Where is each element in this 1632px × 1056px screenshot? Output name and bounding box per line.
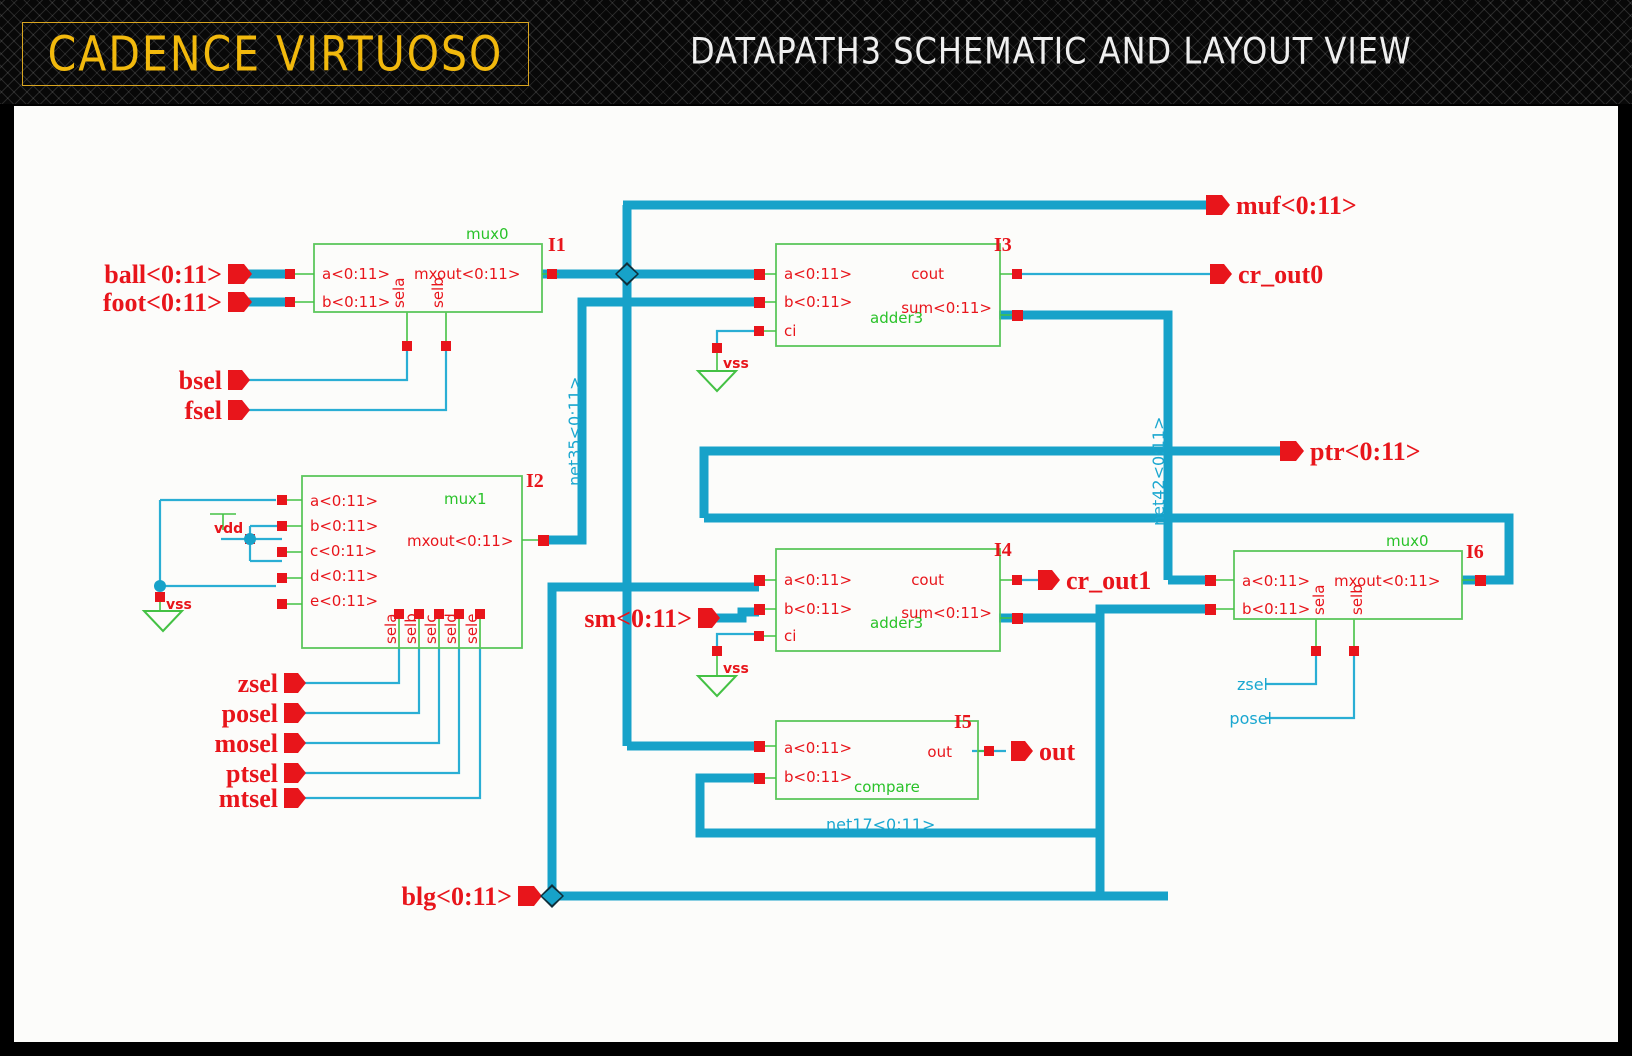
- pin-muf[interactable]: muf<0:11>: [1206, 191, 1357, 220]
- pin-foot[interactable]: foot<0:11>: [103, 288, 252, 317]
- vss-label: vss: [723, 661, 749, 677]
- pin-square: [414, 609, 424, 619]
- instance-I3-id: I3: [994, 234, 1012, 256]
- pin-square: [1349, 646, 1359, 656]
- vss-label: vss: [166, 597, 192, 613]
- pin-arrow-icon: [228, 292, 252, 312]
- instance-I1-port-a: a<0:11>: [322, 265, 390, 283]
- instance-I1-port-selb: selb: [429, 277, 447, 308]
- instance-I2-id: I2: [526, 470, 544, 492]
- supply-vss-i4: vss: [698, 661, 749, 696]
- instance-I1[interactable]: mux0 I1 a<0:11> b<0:11> mxout<0:11> sela…: [285, 225, 566, 351]
- pin-square: [277, 599, 287, 609]
- pin-fsel[interactable]: fsel: [184, 396, 250, 425]
- pin-square: [754, 297, 765, 308]
- pin-square: [475, 609, 485, 619]
- pin-square: [441, 341, 451, 351]
- pin-arrow-icon: [228, 264, 252, 284]
- pin-square: [754, 326, 764, 336]
- instance-I6[interactable]: mux0 I6 a<0:11> b<0:11> mxout<0:11> sela…: [1205, 532, 1486, 656]
- net-label-zsel-i6: zsel: [1237, 675, 1268, 694]
- pin-square: [1012, 310, 1023, 321]
- instance-I2-port-mxout: mxout<0:11>: [407, 532, 513, 550]
- net-label-posel-i6: posel: [1229, 709, 1272, 728]
- instance-I2-cellname: mux1: [444, 490, 487, 508]
- instance-I1-port-sela: sela: [390, 278, 408, 308]
- instance-I4-port-sum: sum<0:11>: [901, 604, 992, 622]
- pin-square: [454, 609, 464, 619]
- pin-out-label: out: [1039, 737, 1075, 766]
- instance-I2-port-e: e<0:11>: [310, 592, 378, 610]
- instance-I6-port-selb: selb: [1348, 584, 1366, 615]
- pin-square: [1311, 646, 1321, 656]
- instance-I3-port-sum: sum<0:11>: [901, 299, 992, 317]
- instance-I3[interactable]: adder3 I3 a<0:11> b<0:11> ci cout sum<0:…: [712, 234, 1023, 353]
- junction-dot: [154, 580, 166, 592]
- pin-ball-label: ball<0:11>: [104, 260, 222, 289]
- pin-mosel-label: mosel: [214, 729, 278, 758]
- instance-I4-port-b: b<0:11>: [784, 600, 852, 618]
- pin-sm[interactable]: sm<0:11>: [584, 604, 720, 633]
- schematic-window: CADENCE VIRTUOSO DATAPATH3 SCHEMATIC AND…: [0, 0, 1632, 1056]
- instance-I5-port-out: out: [927, 743, 952, 761]
- pin-square: [285, 269, 295, 279]
- pin-square: [402, 341, 412, 351]
- instance-I5-id: I5: [954, 711, 972, 733]
- instance-I1-id: I1: [548, 234, 566, 256]
- instance-I2-port-a: a<0:11>: [310, 492, 378, 510]
- pin-arrow-icon: [228, 370, 250, 390]
- pin-bsel[interactable]: bsel: [179, 366, 250, 395]
- pin-zsel-label: zsel: [238, 669, 278, 698]
- pin-mtsel[interactable]: mtsel: [219, 784, 306, 813]
- pin-square: [754, 741, 765, 752]
- instance-I1-cellname: mux0: [466, 225, 509, 243]
- pin-sm-label: sm<0:11>: [584, 604, 692, 633]
- pin-arrow-icon: [284, 788, 306, 808]
- instance-I6-id: I6: [1466, 541, 1484, 563]
- page-title: DATAPATH3 SCHEMATIC AND LAYOUT VIEW: [690, 29, 1410, 73]
- pin-square: [984, 746, 994, 756]
- schematic-drawing[interactable]: mux0 I1 a<0:11> b<0:11> mxout<0:11> sela…: [14, 106, 1618, 1042]
- pin-square: [1012, 613, 1023, 624]
- instance-I2-port-b: b<0:11>: [310, 517, 378, 535]
- instance-I4[interactable]: adder3 I4 a<0:11> b<0:11> ci cout sum<0:…: [712, 539, 1023, 656]
- instance-I5-port-a: a<0:11>: [784, 739, 852, 757]
- title-bar: CADENCE VIRTUOSO DATAPATH3 SCHEMATIC AND…: [0, 0, 1632, 104]
- pin-square: [434, 609, 444, 619]
- instance-I4-port-ci: ci: [784, 627, 796, 645]
- pin-fsel-label: fsel: [184, 396, 222, 425]
- instance-I3-port-ci: ci: [784, 322, 796, 340]
- instance-I6-port-b: b<0:11>: [1242, 600, 1310, 618]
- pin-square: [1475, 575, 1486, 586]
- pin-foot-label: foot<0:11>: [103, 288, 222, 317]
- pin-square: [1205, 575, 1216, 586]
- schematic-canvas[interactable]: mux0 I1 a<0:11> b<0:11> mxout<0:11> sela…: [14, 106, 1618, 1042]
- pin-posel[interactable]: posel: [222, 699, 306, 728]
- instance-I3-port-a: a<0:11>: [784, 265, 852, 283]
- vss-label: vss: [723, 356, 749, 372]
- instance-I2[interactable]: mux1 I2 a<0:11> b<0:11> c<0:11> d<0:11> …: [277, 470, 549, 648]
- net-label-net42: net42<0:11>: [1149, 417, 1168, 526]
- pin-ptr-label: ptr<0:11>: [1310, 437, 1421, 466]
- instance-I5[interactable]: compare I5 a<0:11> b<0:11> out: [754, 711, 994, 799]
- pin-muf-label: muf<0:11>: [1236, 191, 1357, 220]
- pin-ptr[interactable]: ptr<0:11>: [1280, 437, 1421, 466]
- pin-mosel[interactable]: mosel: [214, 729, 306, 758]
- net-label-net17: net17<0:11>: [826, 815, 935, 834]
- instance-I5-cellname: compare: [854, 778, 920, 796]
- brand-label: CADENCE VIRTUOSO: [48, 26, 504, 83]
- junction-diamond-core: [617, 265, 637, 283]
- instance-I6-cellname: mux0: [1386, 532, 1429, 550]
- pin-square: [754, 604, 765, 615]
- instance-I3-port-cout: cout: [911, 265, 944, 283]
- instance-I2-port-c: c<0:11>: [310, 542, 377, 560]
- pin-square: [754, 575, 765, 586]
- net-label-net35: net35<0:11>: [565, 377, 584, 486]
- pin-square: [277, 573, 287, 583]
- pin-square: [547, 269, 557, 279]
- pin-square: [754, 773, 765, 784]
- pin-square: [277, 495, 287, 505]
- pin-mtsel-label: mtsel: [219, 784, 278, 813]
- pin-square: [394, 609, 404, 619]
- junction-dot: [244, 533, 256, 545]
- pin-arrow-icon: [1038, 570, 1060, 590]
- signal-wires: [160, 274, 1354, 798]
- pin-square: [754, 631, 764, 641]
- pin-arrow-icon: [1280, 441, 1304, 461]
- pin-blg-label: blg<0:11>: [401, 882, 512, 911]
- pin-posel-label: posel: [222, 699, 278, 728]
- ground-symbol: [698, 676, 736, 696]
- instance-I4-id: I4: [994, 539, 1012, 561]
- ground-symbol: [698, 371, 736, 391]
- pin-bsel-label: bsel: [179, 366, 222, 395]
- pin-square: [754, 269, 765, 280]
- pin-arrow-icon: [284, 703, 306, 723]
- pin-arrow-icon: [228, 400, 250, 420]
- instance-I4-port-cout: cout: [911, 571, 944, 589]
- brand-badge: CADENCE VIRTUOSO: [22, 22, 529, 86]
- instance-I3-port-b: b<0:11>: [784, 293, 852, 311]
- pin-ball[interactable]: ball<0:11>: [104, 260, 252, 289]
- pin-square: [712, 646, 722, 656]
- pin-arrow-icon: [1206, 195, 1230, 215]
- supply-vss-i3: vss: [698, 356, 749, 391]
- pin-square: [538, 535, 549, 546]
- pin-zsel[interactable]: zsel: [238, 669, 306, 698]
- pin-square: [1205, 604, 1216, 615]
- supply-vss-mux1: vss: [144, 592, 192, 631]
- instance-I5-port-b: b<0:11>: [784, 768, 852, 786]
- pin-cr_out1-label: cr_out1: [1066, 566, 1151, 595]
- pin-square: [1012, 575, 1022, 585]
- pin-square: [285, 297, 295, 307]
- instance-I6-port-sela: sela: [1310, 585, 1328, 615]
- pin-arrow-icon: [1011, 741, 1033, 761]
- instance-I6-port-a: a<0:11>: [1242, 572, 1310, 590]
- pin-out[interactable]: out: [1011, 737, 1075, 766]
- vdd-label: vdd: [214, 521, 243, 537]
- instance-I4-port-a: a<0:11>: [784, 571, 852, 589]
- pin-arrow-icon: [698, 608, 720, 628]
- pin-square: [1012, 269, 1022, 279]
- pin-cr_out0-label: cr_out0: [1238, 260, 1323, 289]
- ground-symbol: [144, 611, 182, 631]
- pin-arrow-icon: [284, 733, 306, 753]
- pin-cr_out0[interactable]: cr_out0: [1210, 260, 1323, 289]
- junction-diamond-core: [542, 887, 562, 905]
- pin-arrow-icon: [284, 763, 306, 783]
- instance-I2-port-d: d<0:11>: [310, 567, 378, 585]
- pin-blg[interactable]: blg<0:11>: [401, 882, 542, 911]
- instance-I1-port-b: b<0:11>: [322, 293, 390, 311]
- pin-square: [277, 547, 287, 557]
- pin-square: [712, 343, 722, 353]
- pin-arrow-icon: [1210, 264, 1232, 284]
- pin-cr_out1[interactable]: cr_out1: [1038, 566, 1151, 595]
- pin-square: [155, 592, 165, 602]
- pin-arrow-icon: [284, 673, 306, 693]
- pin-square: [277, 521, 287, 531]
- pin-arrow-icon: [518, 886, 542, 906]
